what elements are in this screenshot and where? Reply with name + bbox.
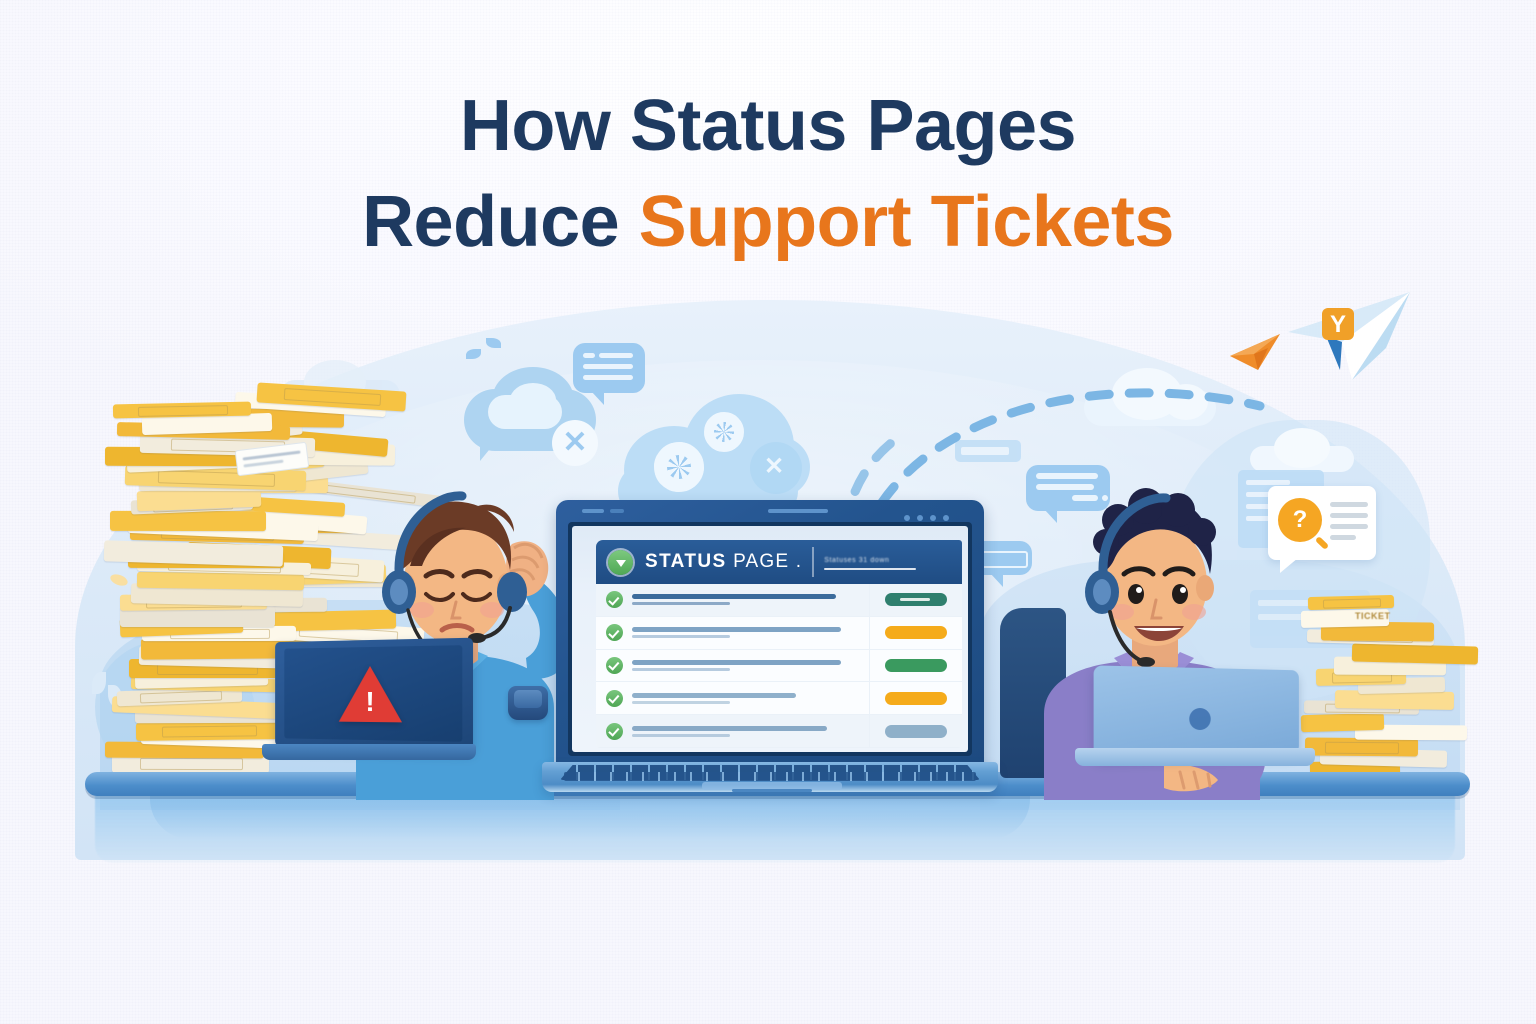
status-badge-glyph (900, 598, 930, 601)
brand-thin: PAGE . (727, 551, 803, 572)
alert-triangle-icon (339, 665, 402, 722)
status-pill-cell (869, 682, 962, 714)
envelope (1351, 643, 1478, 664)
check-circle-icon (606, 690, 623, 707)
x-mark-icon: ✕ (764, 456, 788, 480)
title-line-2: Reduce Support Tickets (0, 174, 1536, 270)
status-page-meta: Statuses 31 down (824, 555, 916, 570)
illustration-canvas: ✕ ✕ Y (0, 0, 1536, 1024)
right-laptop (1075, 668, 1315, 788)
status-badge[interactable] (885, 725, 947, 738)
status-meta-rule (824, 568, 916, 570)
service-name-bar (632, 726, 827, 731)
left-laptop (262, 640, 476, 780)
status-row-label (632, 660, 860, 671)
left-laptop-lid (275, 638, 473, 751)
lid-accent-left (582, 509, 604, 513)
decor-leaf (486, 338, 501, 348)
lid-accent-right (904, 508, 962, 514)
status-row-label (632, 594, 860, 605)
status-pill-cell (869, 584, 962, 616)
left-laptop-screen (284, 645, 462, 742)
status-pill-cell (869, 650, 962, 682)
title-line-2-accent: Support Tickets (639, 182, 1174, 262)
base-notch (732, 789, 812, 792)
check-circle-icon (606, 723, 623, 740)
check-circle-icon (606, 624, 623, 641)
check-circle-icon (606, 591, 623, 608)
status-row-label (632, 627, 860, 638)
status-page-brand: STATUS PAGE . (645, 551, 802, 573)
envelope (1308, 595, 1394, 610)
status-row[interactable] (596, 650, 962, 683)
envelope (1335, 690, 1454, 709)
service-detail-bar (632, 602, 730, 605)
service-detail-bar (632, 635, 730, 638)
page-title: How Status Pages Reduce Support Tickets (0, 78, 1536, 270)
right-laptop-base (1075, 748, 1315, 766)
status-pill-cell (869, 715, 962, 747)
left-laptop-base (262, 744, 476, 760)
envelope (1305, 737, 1418, 756)
service-name-bar (632, 627, 841, 632)
paper-plane-large-icon: Y (1282, 288, 1422, 388)
service-name-bar (632, 660, 841, 665)
check-circle-icon (606, 657, 623, 674)
status-page-header: STATUS PAGE . Statuses 31 down (596, 540, 962, 584)
status-badge[interactable] (885, 593, 947, 606)
brand-bold: STATUS (645, 551, 727, 572)
keyboard-row-2 (564, 772, 976, 781)
x-mark-icon: ✕ (552, 420, 598, 466)
status-row-label (632, 693, 860, 704)
status-badge[interactable] (885, 626, 947, 639)
service-detail-bar (632, 734, 730, 737)
service-detail-bar (632, 701, 730, 704)
right-laptop-lid (1094, 665, 1299, 758)
status-page-screen: STATUS PAGE . Statuses 31 down (572, 526, 968, 752)
webcam-bar (768, 509, 828, 513)
service-detail-bar (632, 668, 730, 671)
envelope (136, 721, 281, 741)
status-row[interactable] (596, 617, 962, 650)
title-line-1: How Status Pages (0, 78, 1536, 174)
status-pill-cell (869, 617, 962, 649)
title-line-2-prefix: Reduce (362, 182, 639, 262)
service-name-bar (632, 693, 796, 698)
computer-mouse (508, 686, 548, 720)
status-row[interactable] (596, 682, 962, 715)
envelope (137, 572, 305, 591)
paper-plane-small-icon (1228, 330, 1288, 376)
center-laptop-lid: STATUS PAGE . Statuses 31 down (556, 500, 984, 768)
envelope (113, 401, 251, 418)
header-divider (812, 547, 814, 577)
status-page-rows (596, 584, 962, 748)
svg-text:Y: Y (1330, 311, 1346, 338)
lid-accent-left2 (610, 509, 624, 513)
download-arrow-icon (608, 550, 633, 575)
status-row[interactable] (596, 584, 962, 617)
service-name-bar (632, 594, 836, 599)
status-row[interactable] (596, 715, 962, 748)
status-row-label (632, 726, 860, 737)
status-badge[interactable] (885, 659, 947, 672)
ticket-label: TICKET (1355, 611, 1391, 621)
center-laptop: STATUS PAGE . Statuses 31 down (556, 500, 984, 800)
status-meta-text: Statuses 31 down (824, 557, 916, 564)
status-badge[interactable] (885, 692, 947, 705)
center-laptop-base (542, 762, 998, 792)
